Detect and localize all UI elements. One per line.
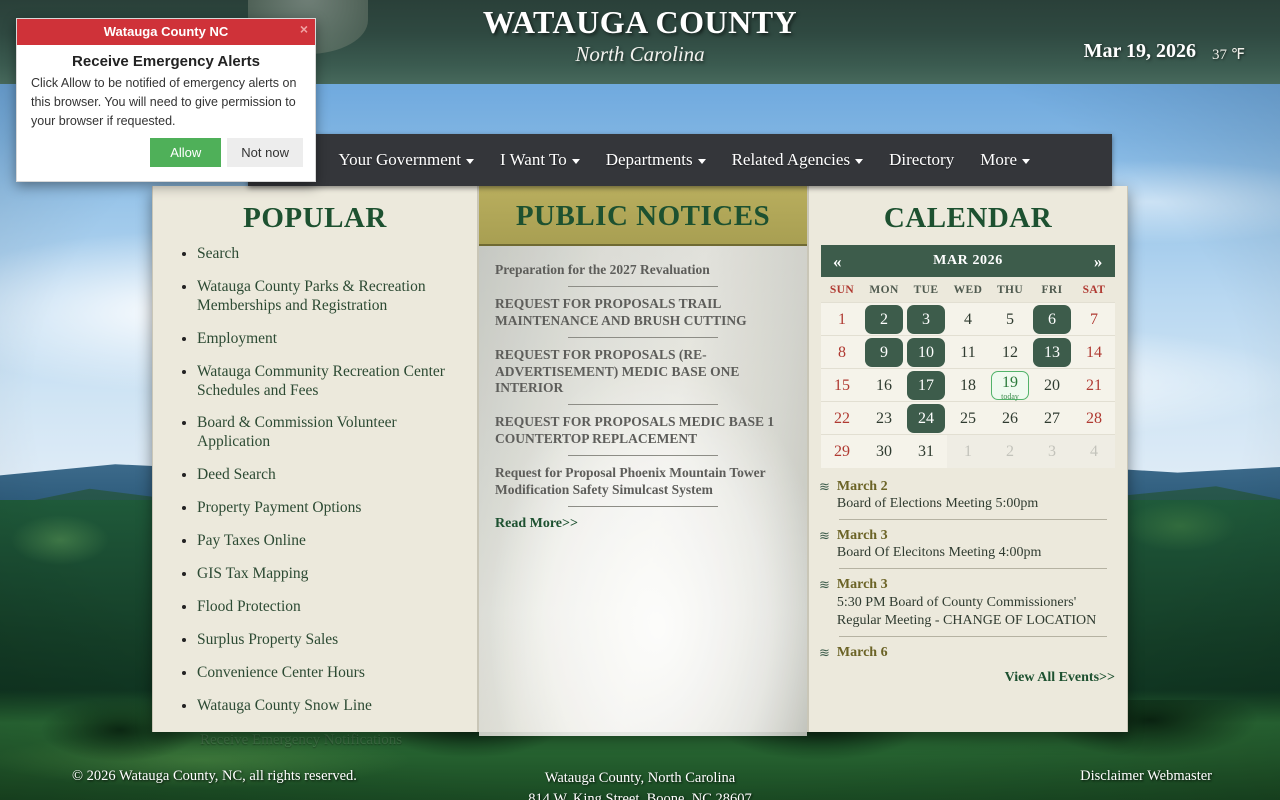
calendar-month-label: MAR 2026 [933,253,1003,269]
weekday-sat: SAT [1073,277,1115,303]
popular-panel: POPULAR SearchWatauga County Parks & Rec… [152,186,478,732]
calendar-heading: CALENDAR [809,186,1127,245]
calendar-day-number: 15 [823,371,861,400]
main-navigation: HomeYour GovernmentI Want ToDepartmentsR… [248,134,1112,186]
event-body: March 3Board Of Elecitons Meeting 4:00pm [837,527,1113,562]
nav-item-label: Departments [606,150,693,170]
alert-actions: Allow Not now [17,136,315,181]
homepage-panels: POPULAR SearchWatauga County Parks & Rec… [152,186,1128,732]
notice-title-link[interactable]: Preparation for the 2027 Revaluation [495,262,791,279]
popular-link[interactable]: Employment [197,330,459,349]
calendar-day-cell[interactable]: 6 [1031,303,1073,336]
current-date: Mar 19, 2026 [1084,40,1196,63]
today-label: today [992,393,1028,400]
calendar-day-cell[interactable]: 1 [947,435,989,468]
calendar-day-cell[interactable]: 14 [1073,336,1115,369]
current-temperature: 37 ℉ [1212,45,1245,64]
calendar-week-row: 2930311234 [821,435,1115,468]
event-bullet-icon: ≋ [819,478,830,513]
page-root: WATAUGA COUNTY North Carolina Mar 19, 20… [0,0,1280,800]
calendar-day-number: 4 [949,305,987,334]
event-description: 5:30 PM Board of County Commissioners' R… [837,594,1113,630]
calendar-day-cell[interactable]: 17 [905,369,947,402]
emergency-alert-dialog: Watauga County NC × Receive Emergency Al… [16,18,316,182]
calendar-day-number: 17 [907,371,945,400]
site-footer: © 2026 Watauga County, NC, all rights re… [0,766,1280,800]
event-bullet-icon: ≋ [819,644,830,662]
calendar-day-number: 4 [1075,437,1113,466]
calendar-weekday-row: SUNMONTUEWEDTHUFRISAT [821,277,1115,303]
emergency-notifications-link[interactable]: Receive Emergency Notifications [200,732,402,749]
read-more-link[interactable]: Read More>> [495,516,791,532]
notice-item: Request for Proposal Phoenix Mountain To… [495,465,791,507]
calendar-day-number: 10 [907,338,945,367]
footer-disclaimer-webmaster[interactable]: Disclaimer Webmaster [1080,768,1212,785]
calendar-day-cell[interactable]: 2 [863,303,905,336]
chevron-down-icon [466,159,474,164]
popular-link[interactable]: Board & Commission Volunteer Application [197,414,459,452]
alert-body-text: Click Allow to be notified of emergency … [17,74,315,136]
calendar-day-number: 16 [865,371,903,400]
event-bullet-icon: ≋ [819,576,830,629]
event-item[interactable]: ≋March 35:30 PM Board of County Commissi… [819,576,1113,629]
calendar-day-number: 31 [907,437,945,466]
calendar-day-cell[interactable]: 29 [821,435,863,468]
calendar-days: 12345678910111213141516171819today202122… [821,303,1115,468]
calendar-day-cell[interactable]: 20 [1031,369,1073,402]
event-description: Board of Elections Meeting 5:00pm [837,495,1113,513]
notice-title-link[interactable]: Request for Proposal Phoenix Mountain To… [495,465,791,499]
notice-divider [568,404,718,405]
calendar-panel: CALENDAR « MAR 2026 » SUNMONTUEWEDTHUFRI… [808,186,1128,732]
popular-link[interactable]: Search [197,245,459,264]
calendar-day-number: 9 [865,338,903,367]
event-divider [839,519,1107,520]
public-notices-heading: PUBLIC NOTICES [479,186,807,246]
calendar-day-cell[interactable]: 24 [905,402,947,435]
chevron-down-icon [572,159,580,164]
calendar-day-cell[interactable]: 30 [863,435,905,468]
calendar-week-row: 1516171819today2021 [821,369,1115,402]
nav-item-label: Your Government [339,150,461,170]
chevron-down-icon [1022,159,1030,164]
calendar-day-cell[interactable]: 9 [863,336,905,369]
nav-item-departments[interactable]: Departments [593,144,719,176]
calendar-day-number: 6 [1033,305,1071,334]
popular-heading: POPULAR [153,186,477,245]
next-month-icon[interactable]: » [1094,253,1103,270]
calendar-day-cell[interactable]: 27 [1031,402,1073,435]
calendar-day-cell[interactable]: 19today [989,369,1031,402]
event-date: March 6 [837,644,1113,662]
calendar-week-row: 1234567 [821,303,1115,336]
event-body: March 35:30 PM Board of County Commissio… [837,576,1113,629]
calendar-widget: « MAR 2026 » SUNMONTUEWEDTHUFRISAT 12345… [809,245,1127,468]
calendar-day-number: 28 [1075,404,1113,433]
calendar-day-cell[interactable]: 15 [821,369,863,402]
weekday-mon: MON [863,277,905,303]
calendar-day-number: 20 [1033,371,1071,400]
nav-item-more[interactable]: More [967,144,1043,176]
notice-divider [568,286,718,287]
popular-link[interactable]: Pay Taxes Online [197,532,459,551]
popular-link[interactable]: Flood Protection [197,598,459,617]
event-divider [839,568,1107,569]
close-icon[interactable]: × [300,22,308,36]
calendar-day-number: 21 [1075,371,1113,400]
popular-link[interactable]: GIS Tax Mapping [197,565,459,584]
footer-address-line2: 814 W. King Street, Boone, NC 28607 [0,789,1280,800]
calendar-day-cell[interactable]: 13 [1031,336,1073,369]
calendar-day-cell[interactable]: 2 [989,435,1031,468]
calendar-grid: SUNMONTUEWEDTHUFRISAT 123456789101112131… [821,277,1115,468]
popular-link[interactable]: Deed Search [197,466,459,485]
calendar-day-cell[interactable]: 3 [905,303,947,336]
nav-item-label: Directory [889,150,954,170]
event-date: March 2 [837,478,1113,496]
notice-item: REQUEST FOR PROPOSALS MEDIC BASE 1 COUNT… [495,414,791,456]
calendar-day-number: 3 [907,305,945,334]
notice-item: Preparation for the 2027 Revaluation [495,262,791,287]
chevron-down-icon [855,159,863,164]
calendar-nav: « MAR 2026 » [821,245,1115,277]
nav-item-your-government[interactable]: Your Government [326,144,487,176]
notice-divider [568,455,718,456]
calendar-day-number: 23 [865,404,903,433]
calendar-day-cell[interactable]: 3 [1031,435,1073,468]
calendar-day-cell[interactable]: 16 [863,369,905,402]
calendar-day-number: 1 [823,305,861,334]
nav-item-i-want-to[interactable]: I Want To [487,144,593,176]
calendar-day-number: 5 [991,305,1029,334]
popular-links-list: SearchWatauga County Parks & Recreation … [153,245,477,716]
calendar-day-cell[interactable]: 22 [821,402,863,435]
event-divider [839,636,1107,637]
popular-link[interactable]: Watauga County Parks & Recreation Member… [197,278,459,316]
calendar-day-number: 14 [1075,338,1113,367]
calendar-day-number: 1 [949,437,987,466]
calendar-day-cell[interactable]: 23 [863,402,905,435]
calendar-day-number: 18 [949,371,987,400]
calendar-day-number: 7 [1075,305,1113,334]
popular-link[interactable]: Property Payment Options [197,499,459,518]
not-now-button[interactable]: Not now [227,138,303,167]
calendar-day-number: 12 [991,338,1029,367]
notice-title-link[interactable]: REQUEST FOR PROPOSALS TRAIL MAINTENANCE … [495,296,791,330]
calendar-day-cell[interactable]: 31 [905,435,947,468]
view-all-events-link[interactable]: View All Events>> [809,664,1127,686]
calendar-week-row: 891011121314 [821,336,1115,369]
calendar-day-number: 3 [1033,437,1071,466]
notice-item: REQUEST FOR PROPOSALS (RE-ADVERTISEMENT)… [495,347,791,406]
alert-site-name: Watauga County NC [104,24,228,39]
event-description: Board Of Elecitons Meeting 4:00pm [837,544,1113,562]
notices-list: Preparation for the 2027 RevaluationREQU… [479,246,807,532]
public-notices-panel: PUBLIC NOTICES Preparation for the 2027 … [478,186,808,732]
calendar-day-cell[interactable]: 10 [905,336,947,369]
notice-item: REQUEST FOR PROPOSALS TRAIL MAINTENANCE … [495,296,791,338]
calendar-day-cell[interactable]: 21 [1073,369,1115,402]
nav-item-directory[interactable]: Directory [876,144,967,176]
calendar-day-cell[interactable]: 25 [947,402,989,435]
event-body: March 6 [837,644,1113,662]
calendar-day-cell[interactable]: 5 [989,303,1031,336]
calendar-day-number: 13 [1033,338,1071,367]
calendar-day-number: 2 [865,305,903,334]
public-notices-body: Preparation for the 2027 RevaluationREQU… [479,246,807,736]
calendar-day-number: 26 [991,404,1029,433]
weekday-fri: FRI [1031,277,1073,303]
calendar-week-row: 22232425262728 [821,402,1115,435]
calendar-day-cell[interactable]: 4 [1073,435,1115,468]
calendar-day-cell[interactable]: 12 [989,336,1031,369]
event-item[interactable]: ≋March 3Board Of Elecitons Meeting 4:00p… [819,527,1113,562]
calendar-day-number: 22 [823,404,861,433]
popular-link[interactable]: Convenience Center Hours [197,664,459,683]
prev-month-icon[interactable]: « [833,253,842,270]
notice-title-link[interactable]: REQUEST FOR PROPOSALS (RE-ADVERTISEMENT)… [495,347,791,398]
calendar-day-cell[interactable]: 1 [821,303,863,336]
event-item[interactable]: ≋March 6 [819,644,1113,662]
calendar-day-cell[interactable]: 8 [821,336,863,369]
calendar-day-cell[interactable]: 7 [1073,303,1115,336]
calendar-day-cell[interactable]: 26 [989,402,1031,435]
notice-divider [568,506,718,507]
nav-item-related-agencies[interactable]: Related Agencies [719,144,877,176]
calendar-day-cell[interactable]: 28 [1073,402,1115,435]
calendar-day-number: 30 [865,437,903,466]
event-date: March 3 [837,527,1113,545]
calendar-day-number: 11 [949,338,987,367]
calendar-day-number: 8 [823,338,861,367]
nav-item-label: I Want To [500,150,567,170]
nav-item-label: Related Agencies [732,150,851,170]
alert-title-bar: Watauga County NC × [17,19,315,45]
calendar-day-number: 24 [907,404,945,433]
weekday-wed: WED [947,277,989,303]
calendar-day-number: 25 [949,404,987,433]
popular-link[interactable]: Surplus Property Sales [197,631,459,650]
notice-divider [568,337,718,338]
calendar-day-number: 29 [823,437,861,466]
calendar-day-number: 2 [991,437,1029,466]
weekday-tue: TUE [905,277,947,303]
calendar-day-cell[interactable]: 18 [947,369,989,402]
weekday-thu: THU [989,277,1031,303]
event-body: March 2Board of Elections Meeting 5:00pm [837,478,1113,513]
event-bullet-icon: ≋ [819,527,830,562]
weekday-sun: SUN [821,277,863,303]
popular-link[interactable]: Watauga Community Recreation Center Sche… [197,363,459,401]
calendar-day-number: 19today [991,371,1029,400]
notice-title-link[interactable]: REQUEST FOR PROPOSALS MEDIC BASE 1 COUNT… [495,414,791,448]
chevron-down-icon [698,159,706,164]
alert-heading: Receive Emergency Alerts [17,45,315,74]
popular-link[interactable]: Watauga County Snow Line [197,697,459,716]
event-date: March 3 [837,576,1113,594]
nav-item-label: More [980,150,1017,170]
calendar-day-cell[interactable]: 4 [947,303,989,336]
event-item[interactable]: ≋March 2Board of Elections Meeting 5:00p… [819,478,1113,513]
calendar-day-number: 27 [1033,404,1071,433]
calendar-day-cell[interactable]: 11 [947,336,989,369]
allow-button[interactable]: Allow [150,138,221,167]
calendar-events-list: ≋March 2Board of Elections Meeting 5:00p… [809,468,1127,662]
